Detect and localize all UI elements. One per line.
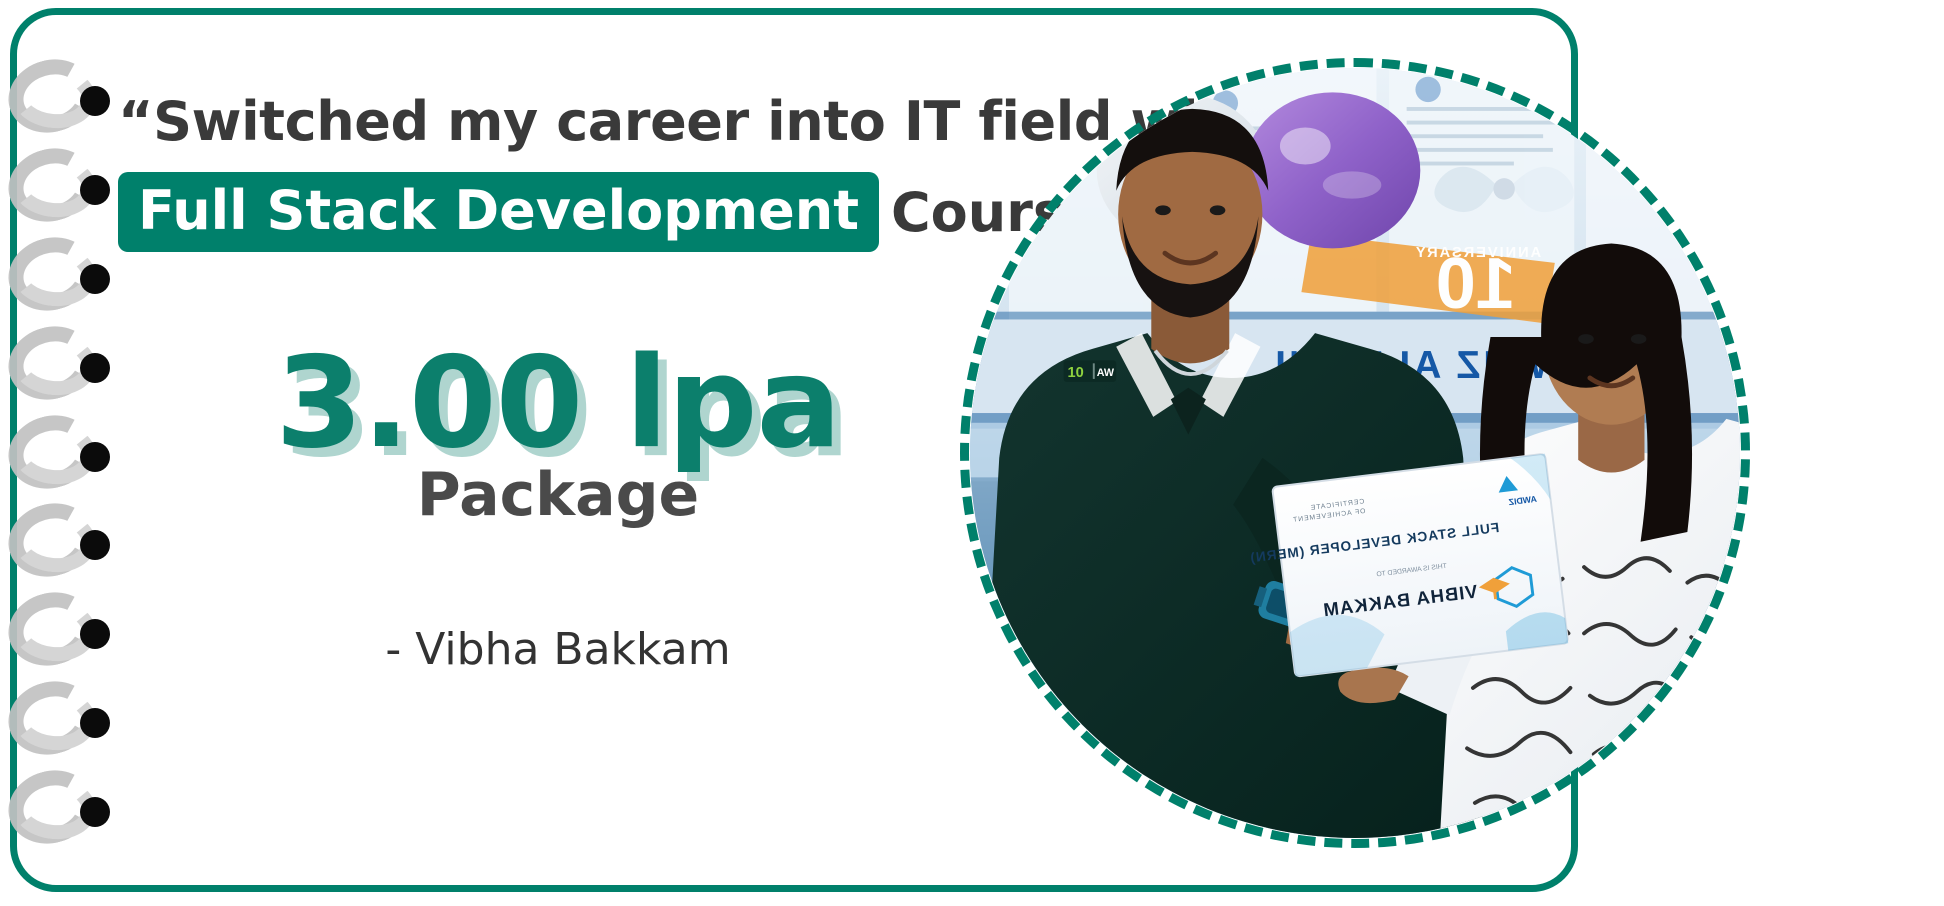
testimonial-content: “Switched my career into IT field with F… [118,0,1058,906]
quote-line-2: Full Stack Development Course” [118,172,1058,252]
svg-text:AW: AW [1097,367,1115,379]
svg-text:ANNIVERSARY: ANNIVERSARY [1414,245,1541,261]
quote-line-1: “Switched my career into IT field with [118,90,1058,153]
package-label: Package [118,465,998,525]
package-amount: 3.00 lpa [118,340,998,466]
photo-image-clip: AWDIZ ALUMNI 10 ANNIVERSARY [970,68,1740,838]
testimonial-attribution: - Vibha Bakkam [118,628,998,672]
alumni-photo: AWDIZ ALUMNI 10 ANNIVERSARY [960,58,1750,848]
svg-text:10: 10 [1067,365,1083,381]
course-highlight-badge: Full Stack Development [118,172,879,252]
balloon-purple [1245,92,1420,248]
photo-illustration: AWDIZ ALUMNI 10 ANNIVERSARY [970,68,1740,838]
